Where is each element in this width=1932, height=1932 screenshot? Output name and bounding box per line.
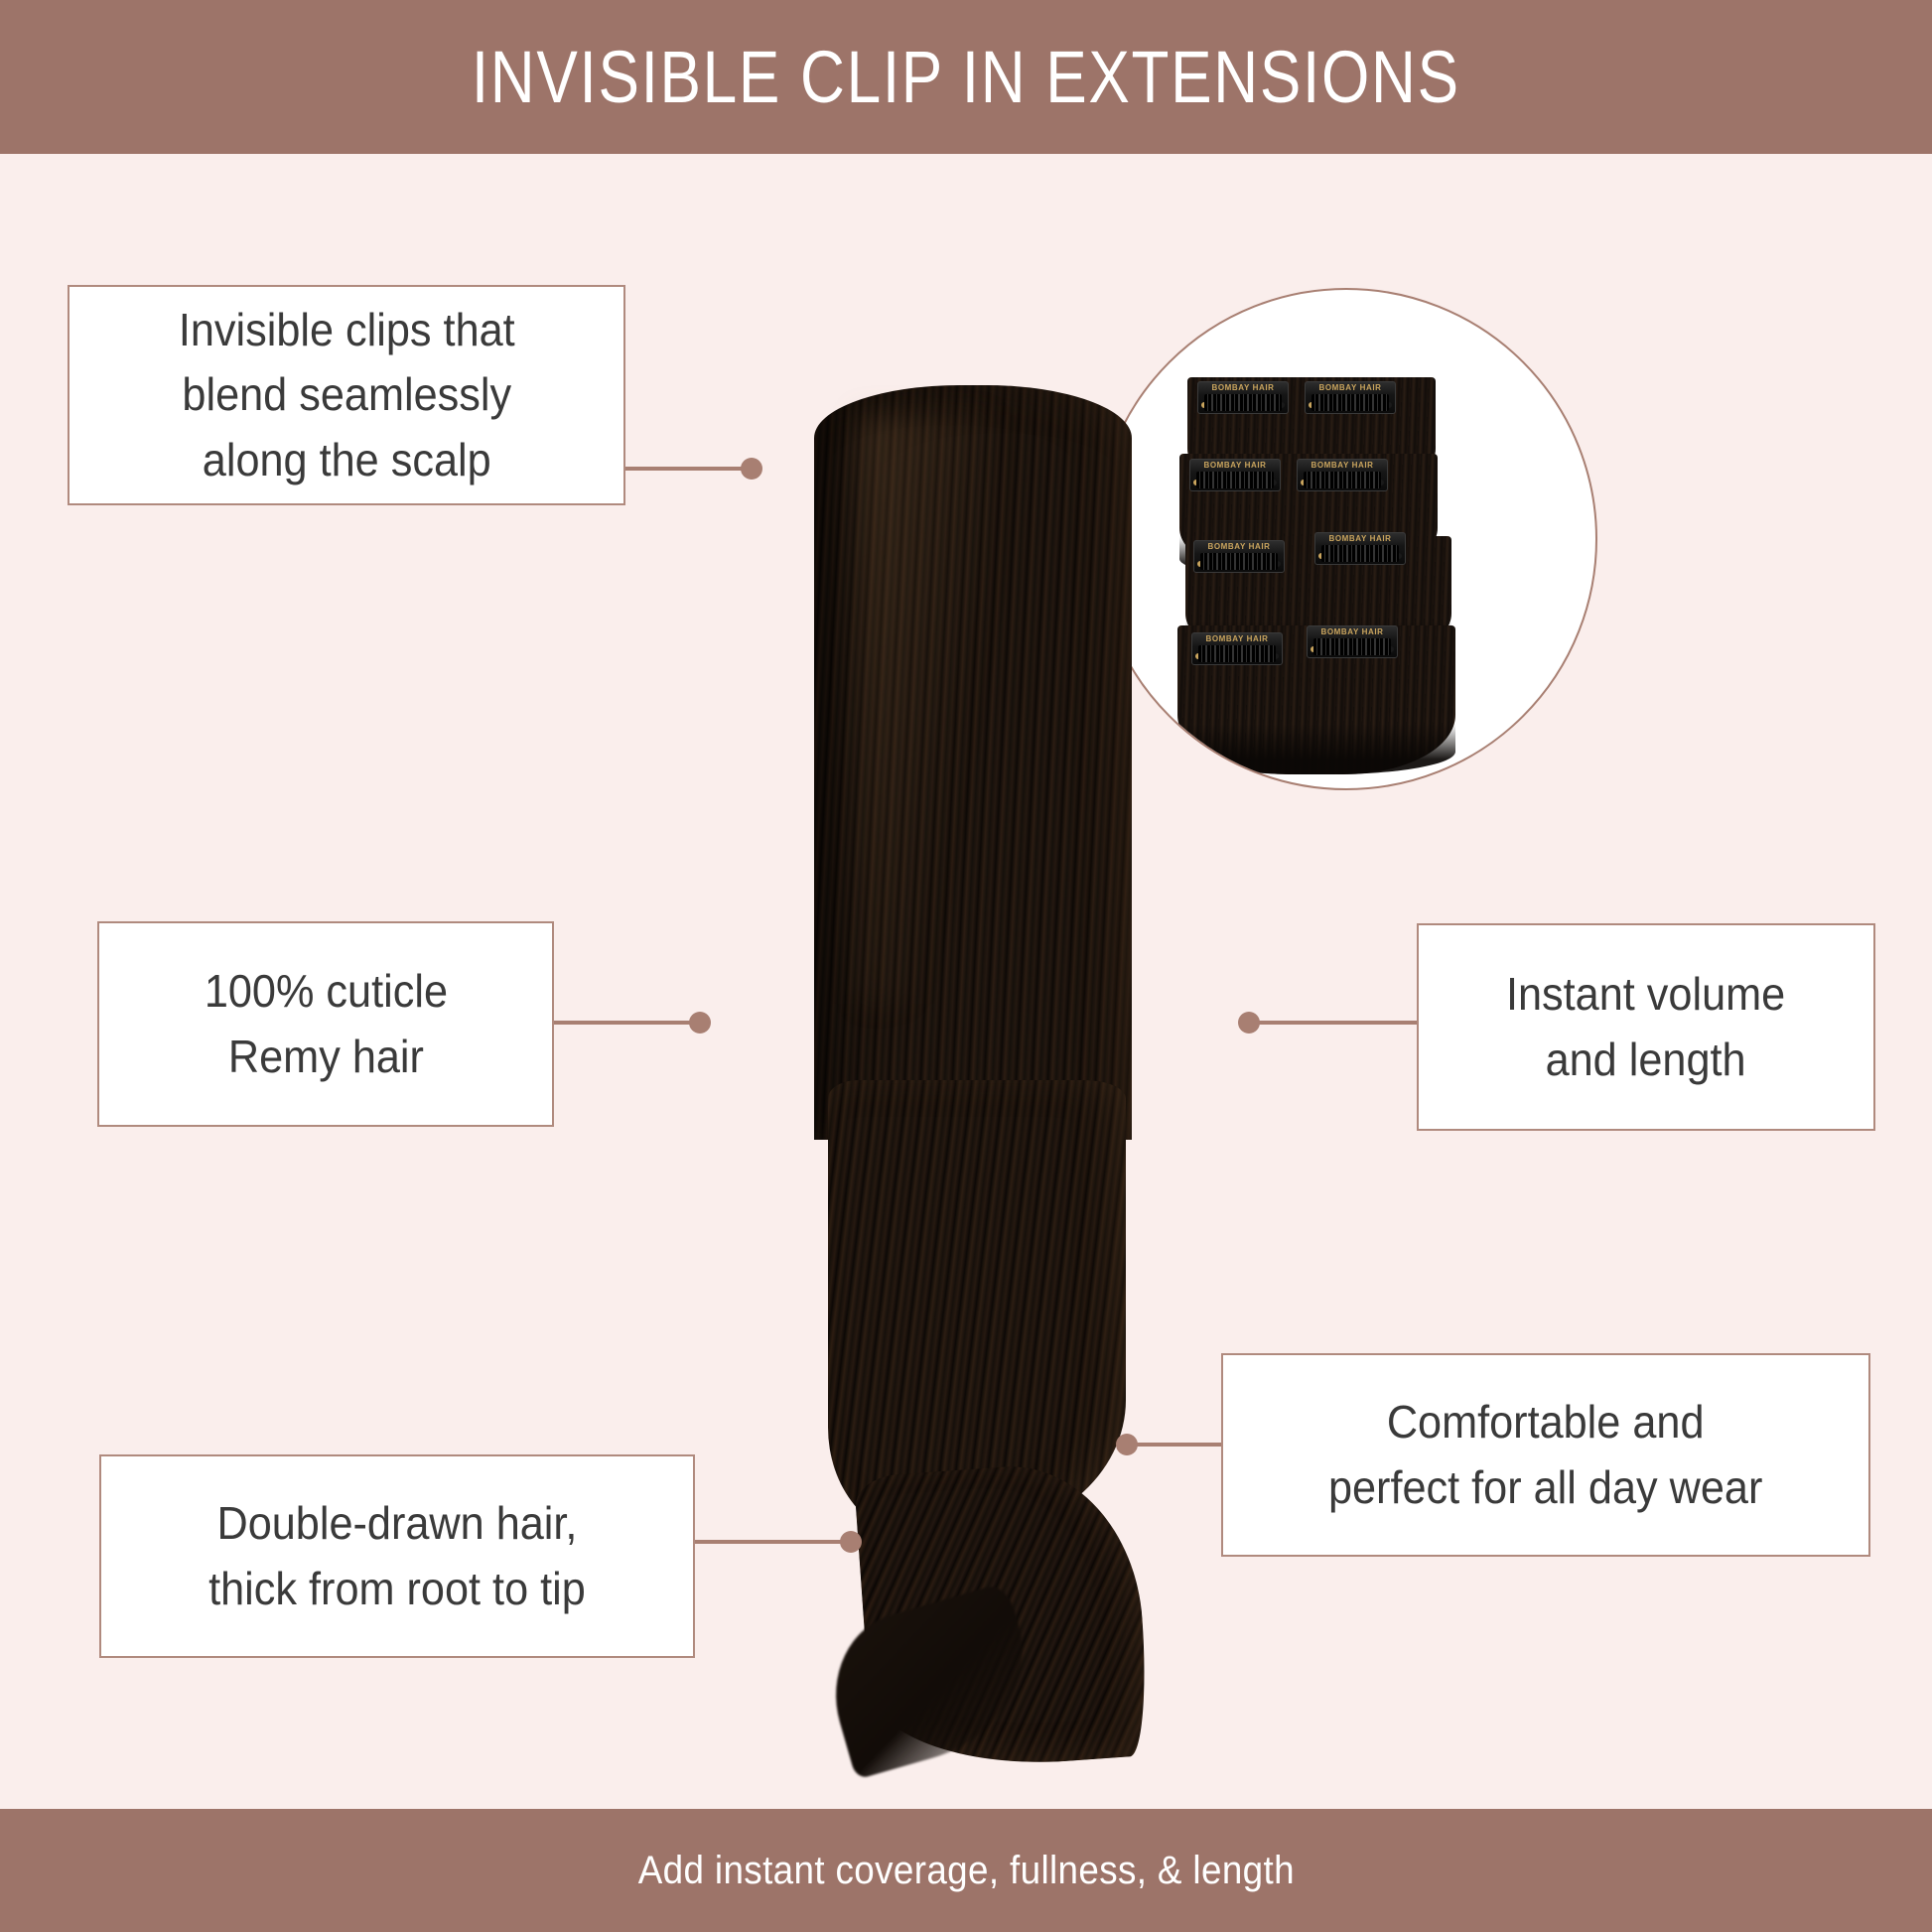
connector-line-comfort <box>1126 1443 1223 1447</box>
callout-text: 100% cuticle Remy hair <box>189 959 462 1089</box>
callout-box-instant-volume: Instant volume and length <box>1417 923 1875 1131</box>
connector-line-volume <box>1244 1021 1419 1025</box>
clip-teeth-icon <box>1204 394 1282 411</box>
callout-box-comfortable: Comfortable and perfect for all day wear <box>1221 1353 1870 1557</box>
clip-teeth-icon <box>1311 394 1389 411</box>
clip-brand-label: BOMBAY HAIR <box>1298 461 1387 470</box>
hair-body <box>814 385 1132 1140</box>
clip-brand-label: BOMBAY HAIR <box>1192 634 1282 643</box>
connector-line-remy <box>554 1021 703 1025</box>
clip-brand-label: BOMBAY HAIR <box>1198 383 1288 392</box>
clip-teeth-icon <box>1200 553 1278 570</box>
clip-brand-label: BOMBAY HAIR <box>1194 542 1284 551</box>
callout-box-double-drawn: Double-drawn hair, thick from root to ti… <box>99 1454 695 1658</box>
hair-clip: BOMBAY HAIR <box>1197 381 1289 414</box>
callout-text: Instant volume and length <box>1491 962 1800 1092</box>
clip-brand-label: BOMBAY HAIR <box>1190 461 1280 470</box>
clip-teeth-icon <box>1196 472 1274 488</box>
hair-clip: BOMBAY HAIR <box>1314 532 1406 565</box>
connector-dot-comfort <box>1116 1434 1138 1455</box>
hair-clip: BOMBAY HAIR <box>1307 625 1398 658</box>
clip-teeth-icon <box>1198 645 1276 662</box>
connector-dot-remy <box>689 1012 711 1034</box>
connector-dot-double <box>840 1531 862 1553</box>
callout-text: Invisible clips that blend seamlessly al… <box>164 298 530 492</box>
connector-dot-clips <box>741 458 762 480</box>
footer-bar: Add instant coverage, fullness, & length <box>0 1809 1932 1932</box>
footer-tagline: Add instant coverage, fullness, & length <box>637 1849 1294 1893</box>
hair-clip: BOMBAY HAIR <box>1305 381 1396 414</box>
weft-stack: BOMBAY HAIR BOMBAY HAIR BOMBAY HAIR BOMB… <box>1158 290 1535 790</box>
clip-teeth-icon <box>1313 638 1391 655</box>
page-title: INVISIBLE CLIP IN EXTENSIONS <box>472 35 1460 119</box>
clip-teeth-icon <box>1321 545 1399 562</box>
clip-teeth-icon <box>1304 472 1381 488</box>
clip-brand-label: BOMBAY HAIR <box>1306 383 1395 392</box>
clip-brand-label: BOMBAY HAIR <box>1315 534 1405 543</box>
callout-text: Comfortable and perfect for all day wear <box>1313 1390 1777 1520</box>
connector-line-double <box>695 1540 854 1544</box>
hair-clip: BOMBAY HAIR <box>1191 632 1283 665</box>
callout-box-invisible-clips: Invisible clips that blend seamlessly al… <box>68 285 625 505</box>
connector-line-clips <box>625 467 753 471</box>
callout-text: Double-drawn hair, thick from root to ti… <box>194 1491 601 1621</box>
callout-box-remy-hair: 100% cuticle Remy hair <box>97 921 554 1127</box>
header-bar: INVISIBLE CLIP IN EXTENSIONS <box>0 0 1932 154</box>
connector-dot-volume <box>1238 1012 1260 1034</box>
hair-extension-product-image <box>755 385 1172 1735</box>
hair-clip: BOMBAY HAIR <box>1297 459 1388 491</box>
clip-brand-label: BOMBAY HAIR <box>1308 627 1397 636</box>
hair-clip: BOMBAY HAIR <box>1189 459 1281 491</box>
hair-clip: BOMBAY HAIR <box>1193 540 1285 573</box>
